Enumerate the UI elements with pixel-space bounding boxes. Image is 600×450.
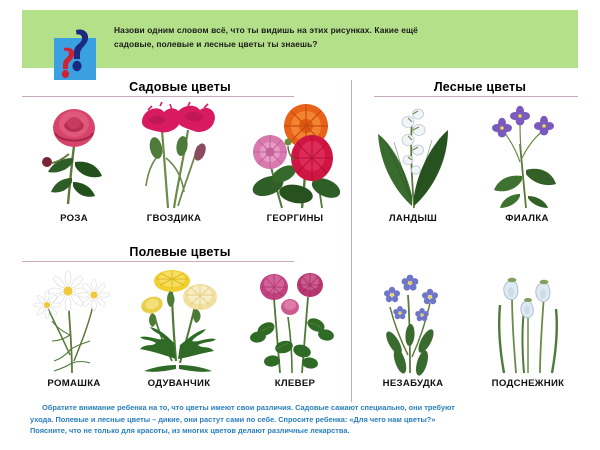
flower-label-lily-of-the-valley: ЛАНДЫШ bbox=[358, 213, 468, 224]
section-title-garden: Садовые цветы bbox=[60, 80, 300, 94]
dandelion-illustration bbox=[126, 265, 232, 377]
flower-label-forget-me-not: НЕЗАБУДКА bbox=[358, 378, 468, 389]
flower-card-carnation: ГВОЗДИКА bbox=[122, 100, 226, 224]
snowdrop-illustration bbox=[472, 265, 584, 377]
flower-card-forget-me-not: НЕЗАБУДКА bbox=[358, 265, 468, 389]
flower-label-chamomile: РОМАШКА bbox=[24, 378, 124, 389]
flower-card-clover: КЛЕВЕР bbox=[240, 265, 350, 389]
header-banner: Назови одним словом всё, что ты видишь н… bbox=[22, 10, 578, 68]
divider-horizontal-forest bbox=[374, 96, 578, 97]
flower-label-dandelion: ОДУВАНЧИК bbox=[126, 378, 232, 389]
clover-illustration bbox=[240, 265, 350, 377]
dahlia-illustration bbox=[240, 100, 350, 212]
question-mark-card-icon bbox=[50, 28, 100, 80]
flower-label-carnation: ГВОЗДИКА bbox=[122, 213, 226, 224]
flower-card-dahlia: ГЕОРГИНЫ bbox=[240, 100, 350, 224]
flower-label-violet: ФИАЛКА bbox=[472, 213, 582, 224]
header-line-2: садовые, полевые и лесные цветы ты знаеш… bbox=[114, 37, 564, 51]
forget-me-not-illustration bbox=[358, 265, 468, 377]
flower-card-chamomile: РОМАШКА bbox=[24, 265, 124, 389]
flower-card-rose: РОЗА bbox=[24, 100, 124, 224]
violet-illustration bbox=[472, 100, 582, 212]
footer-line-3: Поясните, что не только для красоты, из … bbox=[30, 425, 575, 437]
flower-card-snowdrop: ПОДСНЕЖНИК bbox=[472, 265, 584, 389]
flower-label-rose: РОЗА bbox=[24, 213, 124, 224]
footer-line-2: ухода. Полевые и лесные цветы – дикие, о… bbox=[30, 414, 575, 426]
flower-label-clover: КЛЕВЕР bbox=[240, 378, 350, 389]
flower-label-dahlia: ГЕОРГИНЫ bbox=[240, 213, 350, 224]
worksheet-page: Назови одним словом всё, что ты видишь н… bbox=[0, 0, 600, 450]
header-instruction-text: Назови одним словом всё, что ты видишь н… bbox=[114, 23, 564, 51]
rose-illustration bbox=[24, 100, 124, 212]
flower-label-snowdrop: ПОДСНЕЖНИК bbox=[472, 378, 584, 389]
section-title-field: Полевые цветы bbox=[60, 245, 300, 259]
footer-note: Обратите внимание ребенка на то, что цве… bbox=[30, 402, 575, 437]
section-title-forest: Лесные цветы bbox=[380, 80, 580, 94]
carnation-illustration bbox=[122, 100, 226, 212]
flower-card-dandelion: ОДУВАНЧИК bbox=[126, 265, 232, 389]
divider-horizontal-garden bbox=[22, 96, 294, 97]
chamomile-illustration bbox=[24, 265, 124, 377]
flower-card-lily-of-the-valley: ЛАНДЫШ bbox=[358, 100, 468, 224]
divider-vertical-center bbox=[351, 80, 352, 402]
header-line-1: Назови одним словом всё, что ты видишь н… bbox=[114, 23, 564, 37]
divider-horizontal-field bbox=[22, 261, 294, 262]
footer-line-1: Обратите внимание ребенка на то, что цве… bbox=[30, 402, 575, 414]
lily-of-the-valley-illustration bbox=[358, 100, 468, 212]
flower-card-violet: ФИАЛКА bbox=[472, 100, 582, 224]
